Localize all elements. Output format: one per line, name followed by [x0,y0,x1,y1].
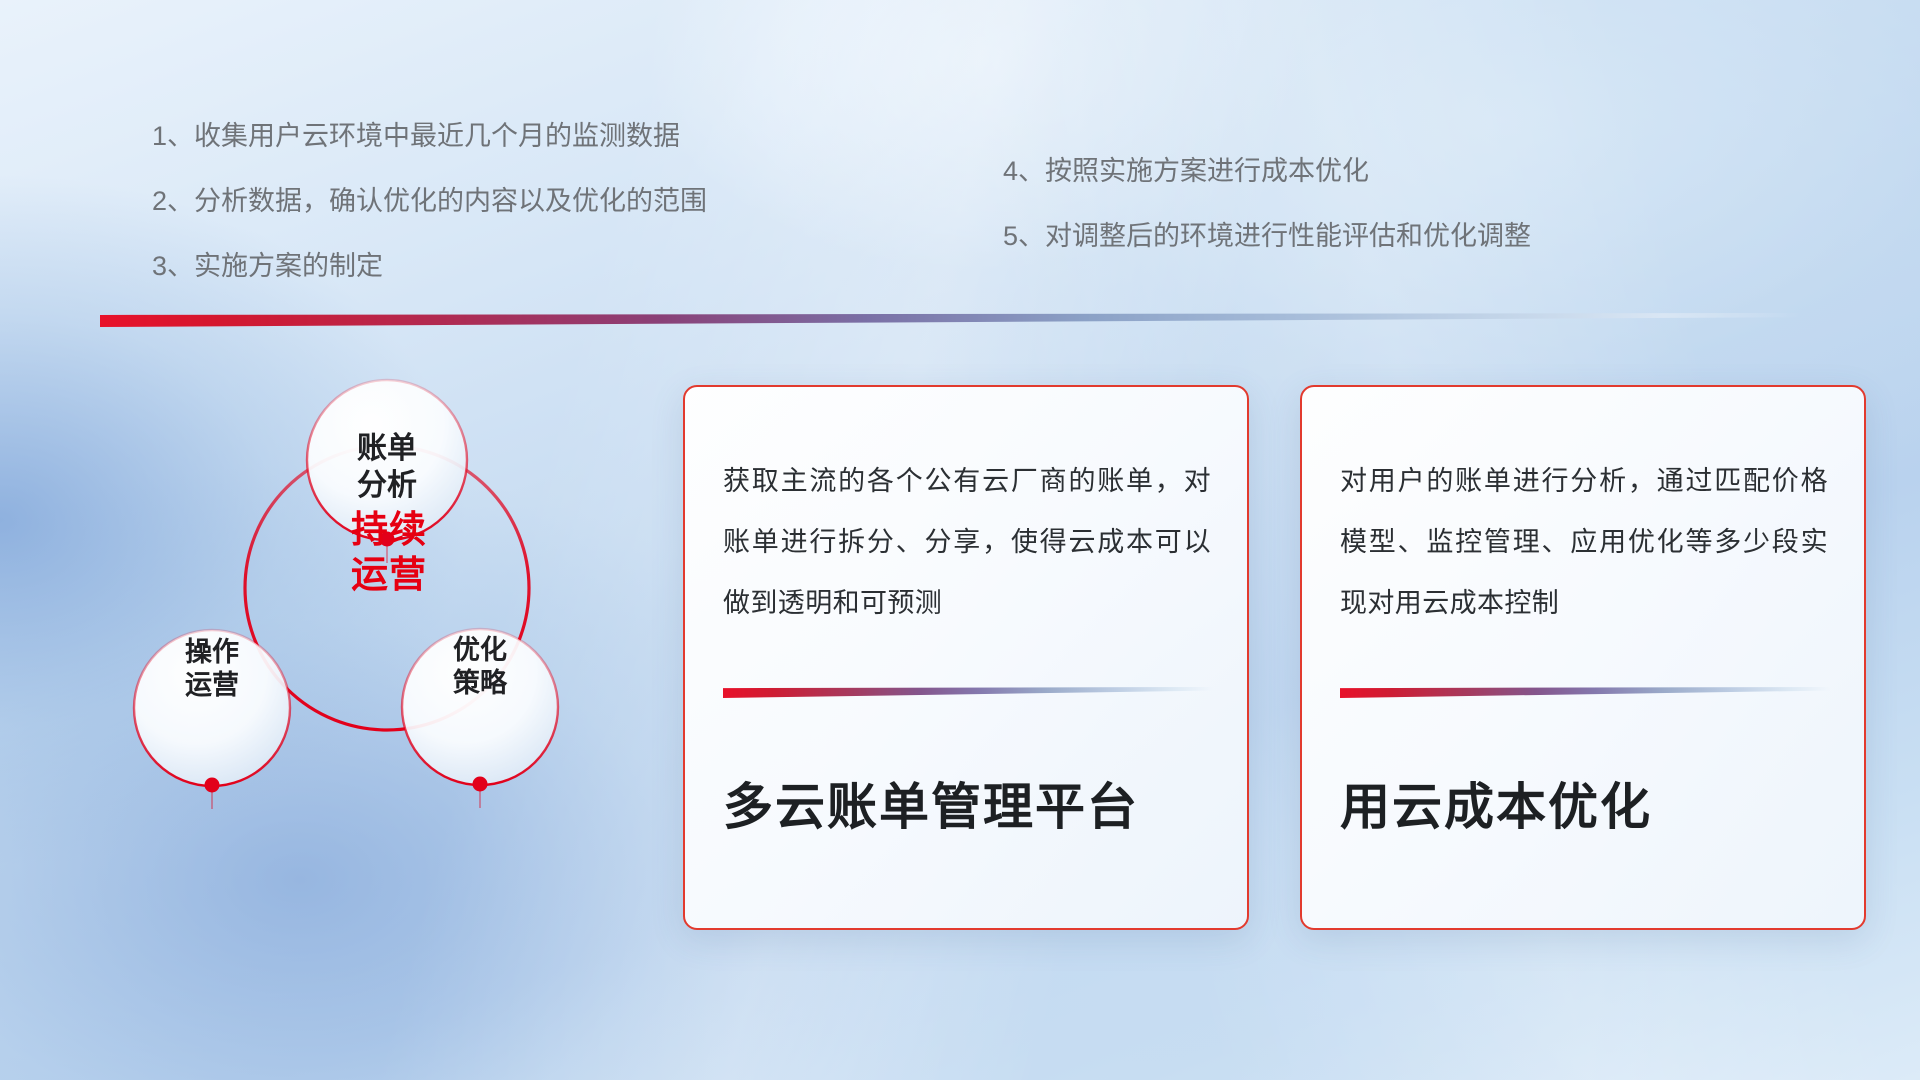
step-item-3: 3、实施方案的制定 [152,253,707,280]
feature-card-cloud-cost-optimization[interactable]: 对用户的账单进行分析，通过匹配价格模型、监控管理、应用优化等多少段实现对用云成本… [1300,385,1866,930]
step-item-4: 4、按照实施方案进行成本优化 [1003,158,1531,185]
feature-card-multicloud-billing[interactable]: 获取主流的各个公有云厂商的账单，对账单进行拆分、分享，使得云成本可以做到透明和可… [683,385,1249,930]
step-item-5: 5、对调整后的环境进行性能评估和优化调整 [1003,223,1531,250]
venn-marker-top [380,532,395,547]
card-divider-bar [723,687,1213,698]
venn-diagram-svg [95,355,615,925]
venn-diagram: 账单 分析 操作 运营 优化 策略 持续 运营 [95,355,615,925]
card-title: 多云账单管理平台 [723,767,1139,839]
section-divider [100,313,1800,327]
card-divider [723,687,1213,698]
steps-list-left: 1、收集用户云环境中最近几个月的监测数据 2、分析数据，确认优化的内容以及优化的… [152,123,707,280]
venn-marker-left [205,778,220,793]
card-divider [1340,687,1830,698]
card-title: 用云成本优化 [1340,767,1652,839]
card-divider-bar [1340,687,1830,698]
venn-bubble-left [134,630,290,786]
card-description: 获取主流的各个公有云厂商的账单，对账单进行拆分、分享，使得云成本可以做到透明和可… [723,451,1211,633]
venn-bubble-right [402,629,558,785]
venn-marker-right [473,777,488,792]
steps-list-right: 4、按照实施方案进行成本优化 5、对调整后的环境进行性能评估和优化调整 [1003,158,1531,250]
section-divider-bar [100,313,1800,327]
venn-bubble-top [307,380,467,540]
step-item-2: 2、分析数据，确认优化的内容以及优化的范围 [152,188,707,215]
step-item-1: 1、收集用户云环境中最近几个月的监测数据 [152,123,707,150]
card-description: 对用户的账单进行分析，通过匹配价格模型、监控管理、应用优化等多少段实现对用云成本… [1340,451,1828,633]
